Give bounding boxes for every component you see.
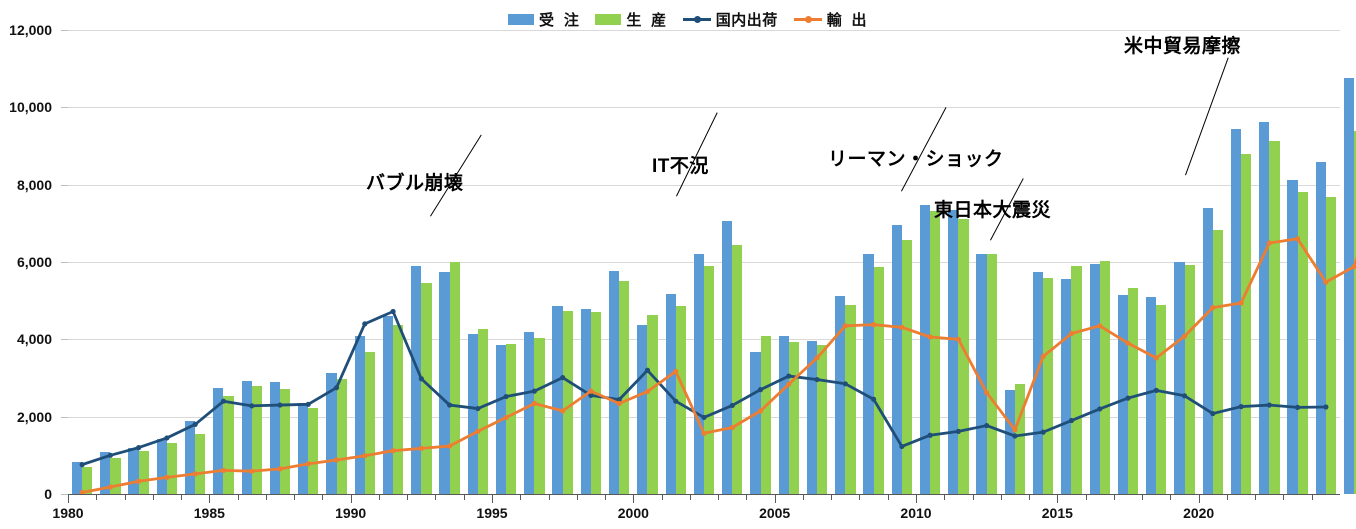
data-point-export-2007 <box>843 323 848 328</box>
x-tick-1984 <box>181 494 182 500</box>
annotation-us-china-trade-friction: 米中貿易摩擦 <box>1124 31 1241 58</box>
data-point-export-2006 <box>814 355 819 360</box>
data-point-export-1987 <box>277 466 282 471</box>
data-point-export-1997 <box>560 408 565 413</box>
x-tick-1988 <box>294 494 295 500</box>
line-series-export <box>80 175 1356 495</box>
legend-swatch-production-icon <box>595 14 621 25</box>
data-point-domestic-shipment-2000 <box>645 368 650 373</box>
data-point-domestic-shipment-2017 <box>1125 396 1130 401</box>
data-point-export-1998 <box>588 389 593 394</box>
x-tick-2001 <box>662 494 663 500</box>
data-point-export-2017 <box>1125 341 1130 346</box>
annotation-great-east-japan-earthquake: 東日本大震災 <box>934 195 1051 222</box>
y-tick-mark <box>61 262 68 263</box>
y-axis-tick-label: 0 <box>0 486 52 502</box>
x-tick-2016 <box>1086 494 1087 500</box>
data-point-export-1993 <box>447 443 452 448</box>
data-point-export-2020 <box>1210 305 1215 310</box>
data-point-domestic-shipment-2003 <box>730 403 735 408</box>
data-point-export-2010 <box>928 334 933 339</box>
data-point-export-2012 <box>984 390 989 395</box>
annotation-lehman-shock: リーマン・ショック <box>828 144 1004 171</box>
data-point-domestic-shipment-2004 <box>758 387 763 392</box>
y-tick-mark <box>61 417 68 418</box>
data-point-export-2003 <box>730 425 735 430</box>
legend-swatch-order-icon <box>508 14 534 25</box>
x-tick-2009 <box>888 494 889 500</box>
data-point-export-2011 <box>956 337 961 342</box>
x-tick-2017 <box>1114 494 1115 500</box>
line-path-export <box>82 178 1356 493</box>
x-tick-1981 <box>96 494 97 500</box>
data-point-export-1983 <box>164 475 169 480</box>
x-axis-tick-label: 1990 <box>335 505 366 521</box>
legend-item-domestic-shipment[interactable]: 国内出荷 <box>683 9 778 30</box>
x-axis-tick-label: 1985 <box>194 505 225 521</box>
data-point-export-2018 <box>1154 355 1159 360</box>
x-tick-2005 <box>775 494 776 503</box>
x-axis-line <box>68 494 1340 495</box>
data-point-export-2009 <box>899 325 904 330</box>
legend-label-production: 生 産 <box>626 9 666 30</box>
y-tick-mark <box>61 107 68 108</box>
x-tick-1997 <box>549 494 550 500</box>
legend-item-production[interactable]: 生 産 <box>595 9 666 30</box>
data-point-export-2000 <box>645 389 650 394</box>
x-axis: 198019851990199520002005201020152020 <box>68 494 1340 529</box>
data-point-domestic-shipment-2011 <box>956 429 961 434</box>
x-tick-2014 <box>1029 494 1030 500</box>
data-point-domestic-shipment-2001 <box>673 399 678 404</box>
x-tick-1989 <box>322 494 323 500</box>
x-axis-tick-label: 2010 <box>900 505 931 521</box>
bar-order-undefined <box>1344 78 1354 494</box>
data-point-export-1985 <box>221 468 226 473</box>
x-tick-1995 <box>492 494 493 503</box>
data-point-export-1999 <box>617 401 622 406</box>
legend-label-domestic-shipment: 国内出荷 <box>716 9 778 30</box>
legend-label-export: 輸 出 <box>827 9 867 30</box>
x-tick-2002 <box>690 494 691 500</box>
y-tick-mark <box>61 339 68 340</box>
data-point-export-1990 <box>362 453 367 458</box>
x-tick-1993 <box>435 494 436 500</box>
data-point-export-1988 <box>306 461 311 466</box>
data-point-domestic-shipment-2016 <box>1097 406 1102 411</box>
data-point-export-1992 <box>419 446 424 451</box>
data-point-export-2015 <box>1069 331 1074 336</box>
x-tick-2004 <box>746 494 747 500</box>
data-point-export-1982 <box>136 479 141 484</box>
legend-line-export-icon <box>794 13 822 25</box>
data-point-export-1986 <box>249 469 254 474</box>
data-point-domestic-shipment-2018 <box>1154 388 1159 393</box>
data-point-export-2021 <box>1238 300 1243 305</box>
line-series-layer <box>68 30 1340 494</box>
data-point-export-2002 <box>701 431 706 436</box>
data-point-export-2013 <box>1012 427 1017 432</box>
x-tick-2024 <box>1312 494 1313 500</box>
data-point-export-2024 <box>1323 280 1328 285</box>
data-point-domestic-shipment-2015 <box>1069 418 1074 423</box>
data-point-domestic-shipment-2005 <box>786 373 791 378</box>
y-axis-tick-label: 12,000 <box>0 22 52 38</box>
x-axis-tick-label: 2005 <box>759 505 790 521</box>
data-point-domestic-shipment-1987 <box>277 402 282 407</box>
x-tick-2023 <box>1283 494 1284 500</box>
x-tick-2019 <box>1170 494 1171 500</box>
x-tick-2011 <box>944 494 945 500</box>
data-point-export-1995 <box>504 415 509 420</box>
annotation-bubble-collapse: バブル崩壊 <box>366 168 464 195</box>
x-tick-2000 <box>633 494 634 503</box>
x-axis-tick-label: 1995 <box>476 505 507 521</box>
data-point-export-2014 <box>1041 354 1046 359</box>
data-point-domestic-shipment-2019 <box>1182 393 1187 398</box>
data-point-domestic-shipment-2010 <box>928 433 933 438</box>
data-point-export-1984 <box>193 471 198 476</box>
data-point-domestic-shipment-1995 <box>504 394 509 399</box>
data-point-domestic-shipment-1988 <box>306 402 311 407</box>
x-tick-1985 <box>209 494 210 503</box>
data-point-export-1996 <box>532 401 537 406</box>
x-tick-1990 <box>351 494 352 503</box>
data-point-domestic-shipment-1989 <box>334 385 339 390</box>
data-point-domestic-shipment-2007 <box>843 381 848 386</box>
x-axis-tick-label: 2015 <box>1042 505 1073 521</box>
data-point-export-2019 <box>1182 334 1187 339</box>
x-tick-1982 <box>125 494 126 500</box>
x-axis-tick-label: 2000 <box>618 505 649 521</box>
data-point-domestic-shipment-1986 <box>249 403 254 408</box>
data-point-export-1991 <box>390 448 395 453</box>
data-point-domestic-shipment-2023 <box>1295 405 1300 410</box>
line-series-domestic-shipment <box>80 309 1329 467</box>
data-point-domestic-shipment-2002 <box>701 415 706 420</box>
x-tick-2021 <box>1227 494 1228 500</box>
chart-legend: 受 注生 産国内出荷輸 出 <box>508 8 867 30</box>
x-tick-1996 <box>520 494 521 500</box>
data-point-domestic-shipment-1992 <box>419 376 424 381</box>
x-tick-2015 <box>1057 494 1058 503</box>
data-point-domestic-shipment-1990 <box>362 321 367 326</box>
x-axis-tick-label: 1980 <box>52 505 83 521</box>
data-point-export-1994 <box>475 429 480 434</box>
legend-item-export[interactable]: 輸 出 <box>794 9 867 30</box>
data-point-domestic-shipment-1984 <box>193 422 198 427</box>
data-point-export-2022 <box>1267 240 1272 245</box>
data-point-export-2005 <box>786 382 791 387</box>
data-point-domestic-shipment-1991 <box>390 309 395 314</box>
data-point-domestic-shipment-1985 <box>221 399 226 404</box>
x-tick-1994 <box>464 494 465 500</box>
x-tick-2018 <box>1142 494 1143 500</box>
y-axis-tick-label: 10,000 <box>0 99 52 115</box>
data-point-domestic-shipment-2012 <box>984 423 989 428</box>
chart-container: 受 注生 産国内出荷輸 出 02,0004,0006,0008,00010,00… <box>0 0 1356 529</box>
annotation-it-recession: IT不況 <box>652 151 709 178</box>
x-tick-1986 <box>238 494 239 500</box>
data-point-domestic-shipment-1983 <box>164 435 169 440</box>
data-point-export-2008 <box>871 322 876 327</box>
x-tick-2003 <box>718 494 719 500</box>
data-point-domestic-shipment-1997 <box>560 375 565 380</box>
x-tick-1983 <box>153 494 154 500</box>
data-point-domestic-shipment-1982 <box>136 445 141 450</box>
data-point-domestic-shipment-1994 <box>475 406 480 411</box>
data-point-domestic-shipment-2013 <box>1012 433 1017 438</box>
data-point-export-2016 <box>1097 323 1102 328</box>
y-axis-tick-label: 8,000 <box>0 177 52 193</box>
legend-item-order[interactable]: 受 注 <box>508 9 579 30</box>
y-axis-tick-label: 4,000 <box>0 331 52 347</box>
data-point-domestic-shipment-1980 <box>80 462 85 467</box>
plot-area: 02,0004,0006,0008,00010,00012,0001980198… <box>68 30 1340 494</box>
data-point-domestic-shipment-1993 <box>447 402 452 407</box>
x-tick-2022 <box>1255 494 1256 500</box>
data-point-domestic-shipment-2008 <box>871 397 876 402</box>
x-tick-2020 <box>1199 494 1200 503</box>
legend-line-domestic-shipment-icon <box>683 13 711 25</box>
data-point-domestic-shipment-2022 <box>1267 402 1272 407</box>
data-point-export-2001 <box>673 369 678 374</box>
line-path-domestic-shipment <box>82 311 1326 464</box>
data-point-domestic-shipment-2021 <box>1238 404 1243 409</box>
data-point-domestic-shipment-2024 <box>1323 404 1328 409</box>
data-point-export-1981 <box>108 484 113 489</box>
x-tick-2010 <box>916 494 917 503</box>
data-point-domestic-shipment-1996 <box>532 389 537 394</box>
data-point-domestic-shipment-2020 <box>1210 411 1215 416</box>
y-axis-tick-label: 6,000 <box>0 254 52 270</box>
legend-label-order: 受 注 <box>539 9 579 30</box>
x-tick-1992 <box>407 494 408 500</box>
x-tick-2007 <box>831 494 832 500</box>
data-point-domestic-shipment-1981 <box>108 453 113 458</box>
y-tick-mark <box>61 185 68 186</box>
x-tick-1998 <box>577 494 578 500</box>
data-point-domestic-shipment-2009 <box>899 444 904 449</box>
y-tick-mark <box>61 30 68 31</box>
y-axis-tick-label: 2,000 <box>0 409 52 425</box>
data-point-export-2004 <box>758 408 763 413</box>
x-tick-2013 <box>1001 494 1002 500</box>
x-tick-1980 <box>68 494 69 503</box>
x-axis-tick-label: 2020 <box>1183 505 1214 521</box>
data-point-domestic-shipment-2006 <box>814 377 819 382</box>
x-tick-2006 <box>803 494 804 500</box>
y-tick-mark <box>61 494 68 495</box>
x-tick-1991 <box>379 494 380 500</box>
data-point-domestic-shipment-2014 <box>1041 430 1046 435</box>
x-tick-2008 <box>859 494 860 500</box>
x-tick-1999 <box>605 494 606 500</box>
x-tick-2012 <box>973 494 974 500</box>
x-tick-1987 <box>266 494 267 500</box>
data-point-export-2023 <box>1295 236 1300 241</box>
data-point-export-1989 <box>334 457 339 462</box>
